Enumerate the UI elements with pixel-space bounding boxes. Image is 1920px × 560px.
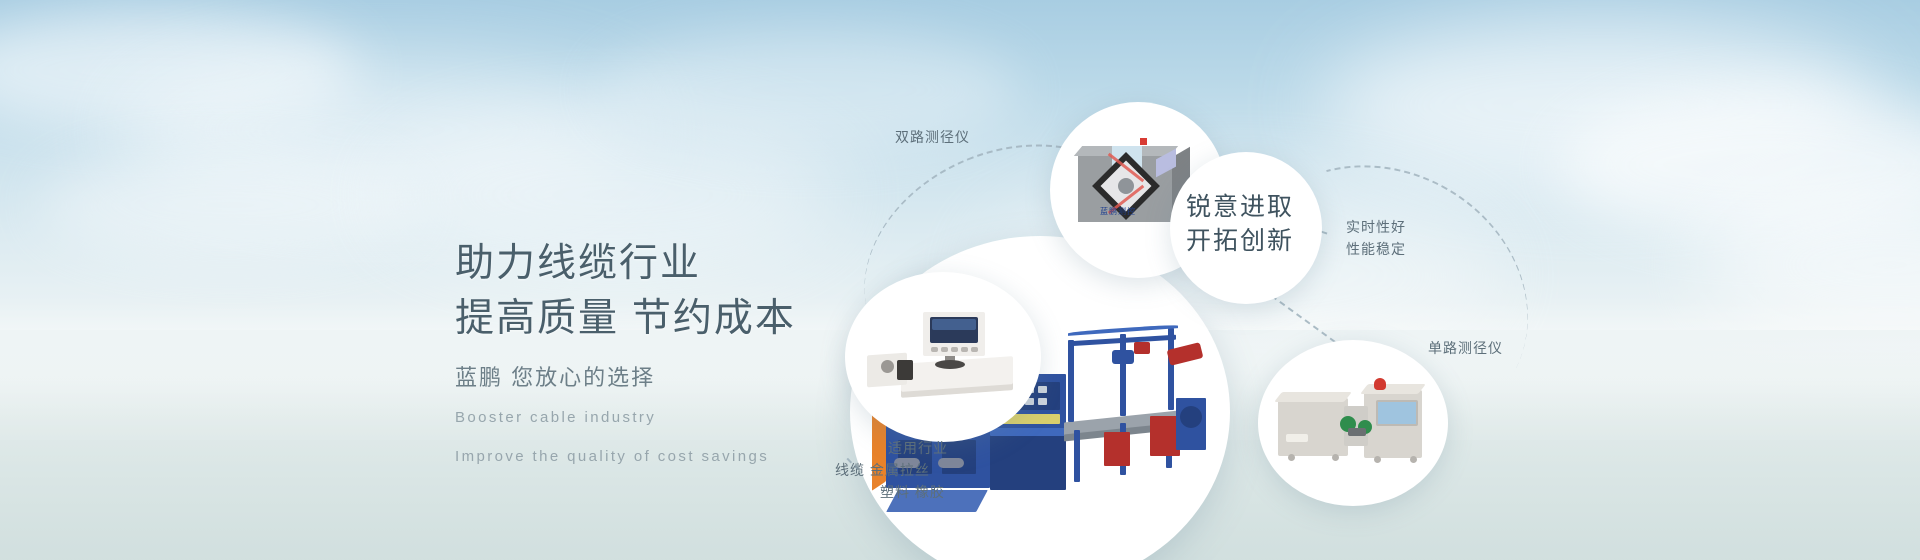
subtitle-chinese: 蓝鹏 您放心的选择 [455,362,796,394]
subtitle-english-1: Booster cable industry [455,402,796,433]
control-console-icon [867,312,1017,404]
slogan-line-1: 锐意进取 [1186,190,1294,224]
industry-line-2-label: 塑料 橡胶 [880,481,945,503]
slogan-line-2: 开拓创新 [1186,224,1294,258]
feature-line-1: 实时性好 [1346,216,1406,238]
product-composition: 蓝鹏测控 双路测径仪 [900,0,1920,560]
subtitle-english-2: Improve the quality of cost savings [455,441,796,472]
banner-copy-block: 助力线缆行业 提高质量 节约成本 蓝鹏 您放心的选择 Booster cable… [455,236,796,472]
industry-line-1-label: 线缆 金属拉丝 [835,459,930,481]
control-console-bubble [845,272,1041,442]
cloud-decoration [120,60,640,200]
industry-title-label: 适用行业 [888,437,948,459]
headline-line-2: 提高质量 节约成本 [455,291,796,346]
single-gauge-bubble [1258,340,1448,506]
dual-gauge-label: 双路测径仪 [895,126,970,148]
hero-banner: 助力线缆行业 提高质量 节约成本 蓝鹏 您放心的选择 Booster cable… [0,0,1920,560]
headline-line-1: 助力线缆行业 [455,236,796,291]
device-brand-label: 蓝鹏测控 [1100,206,1136,217]
cloud-decoration [40,150,420,260]
feature-line-2: 性能稳定 [1346,238,1406,260]
single-gauge-label: 单路测径仪 [1428,337,1503,359]
cloud-decoration [0,10,360,130]
single-axis-laser-gauge-icon [1278,376,1428,470]
